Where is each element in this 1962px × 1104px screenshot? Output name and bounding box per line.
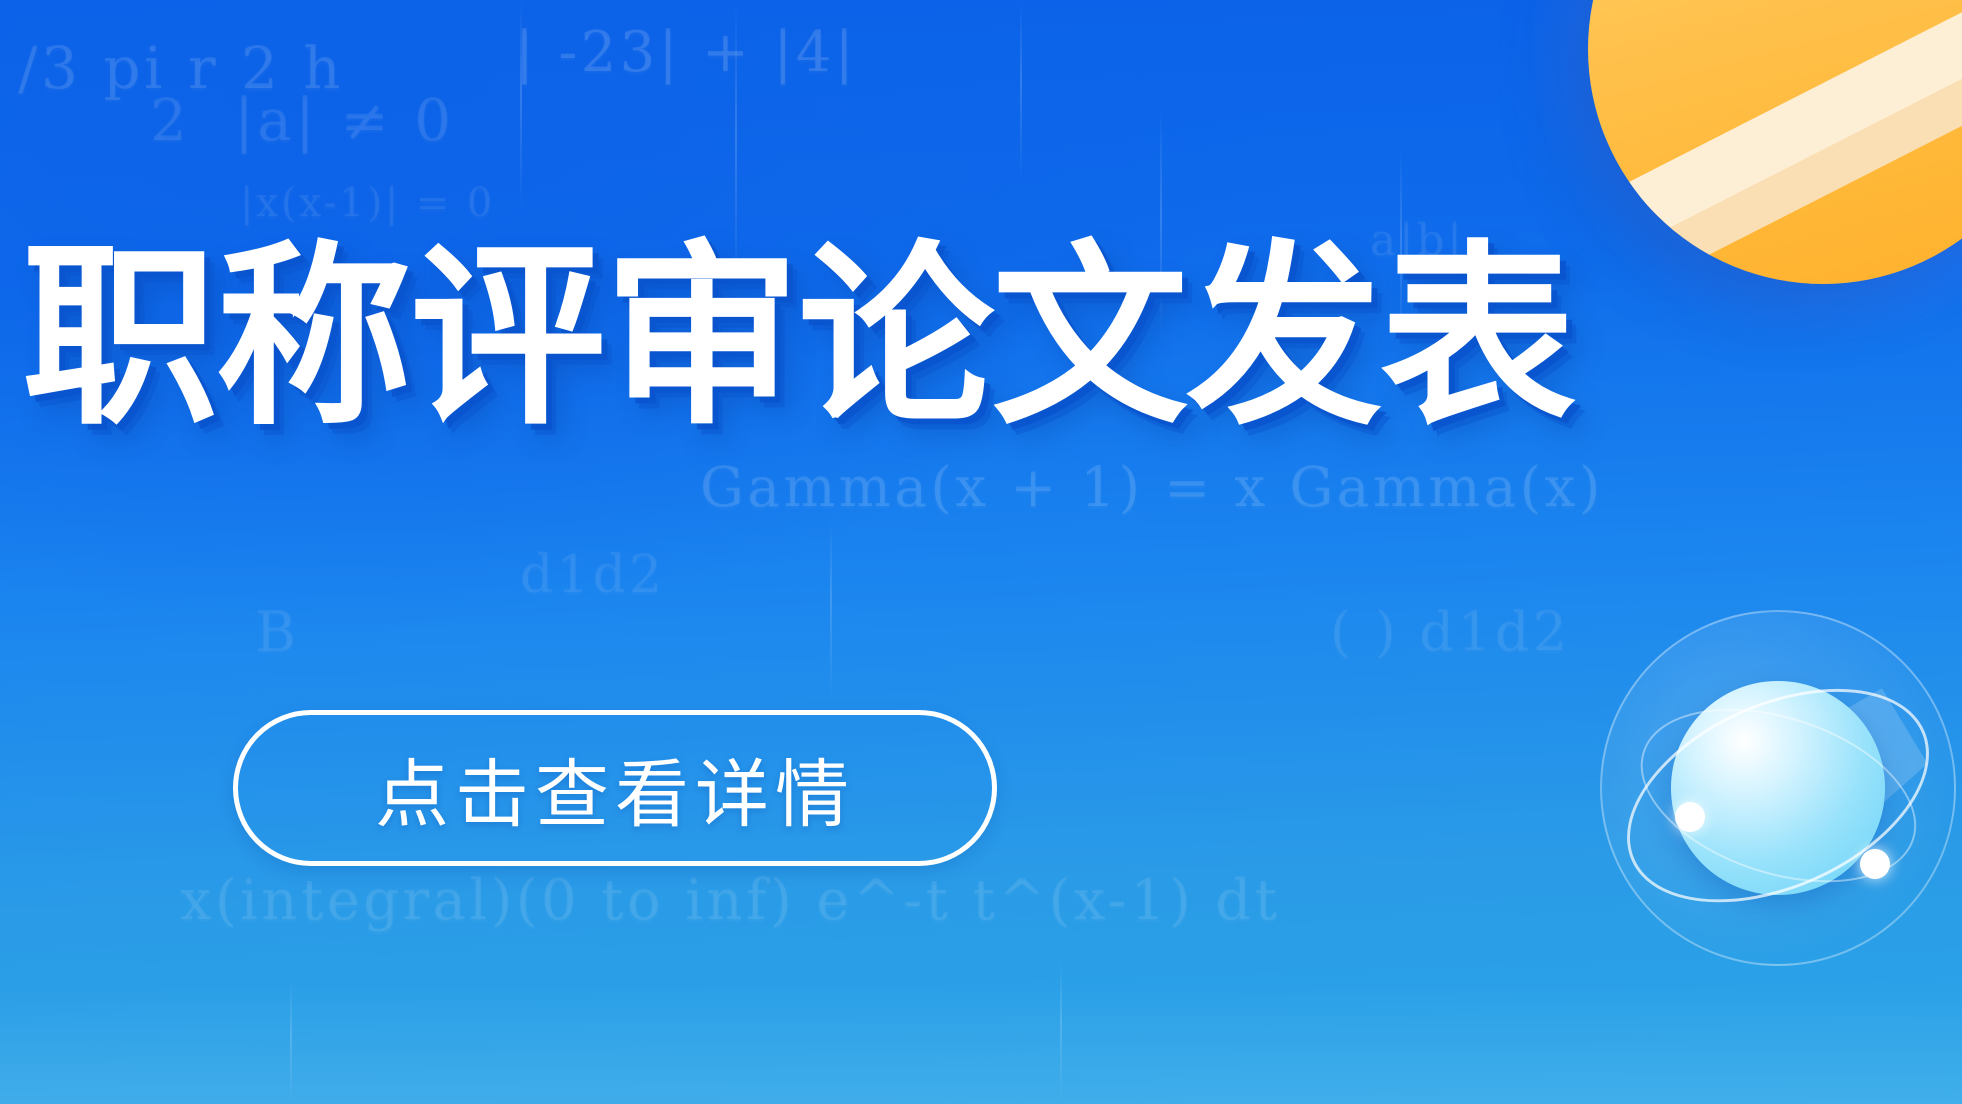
bottom-glow xyxy=(0,984,1962,1104)
watermark-formula-2: 2 |a| ≠ 0 xyxy=(150,86,455,154)
watermark-formula-3: | -23| + |4| xyxy=(515,20,857,85)
view-details-button-label: 点击查看详情 xyxy=(375,735,855,842)
watermark-formula-4: |x(x-1)| = 0 xyxy=(240,180,495,226)
light-streak xyxy=(290,980,292,1104)
promo-banner: /3 pi r 2 h 2 |a| ≠ 0 | -23| + |4| |x(x-… xyxy=(0,0,1962,1104)
light-streak xyxy=(1020,0,1022,180)
atom-sphere-icon xyxy=(1600,610,1956,966)
view-details-button[interactable]: 点击查看详情 xyxy=(233,710,997,866)
orange-planet-icon xyxy=(1588,0,1962,284)
watermark-formula-1: /3 pi r 2 h xyxy=(18,34,344,102)
watermark-formula-5: Gamma(x + 1) = x Gamma(x) xyxy=(700,455,1604,519)
watermark-formula-9: ( ) d1d2 xyxy=(1330,600,1570,663)
watermark-formula-7: B xyxy=(255,600,300,665)
light-streak xyxy=(1060,960,1062,1100)
watermark-formula-8: x(integral)(0 to inf) e^-t t^(x-1) dt xyxy=(180,868,1281,933)
light-streak xyxy=(520,0,522,210)
atom-electron-right xyxy=(1860,849,1890,879)
page-title: 职称评审论文发表 xyxy=(22,240,1442,436)
atom-electron-left xyxy=(1675,802,1705,832)
watermark-formula-6: d1d2 xyxy=(520,545,665,605)
light-streak xyxy=(830,520,832,700)
